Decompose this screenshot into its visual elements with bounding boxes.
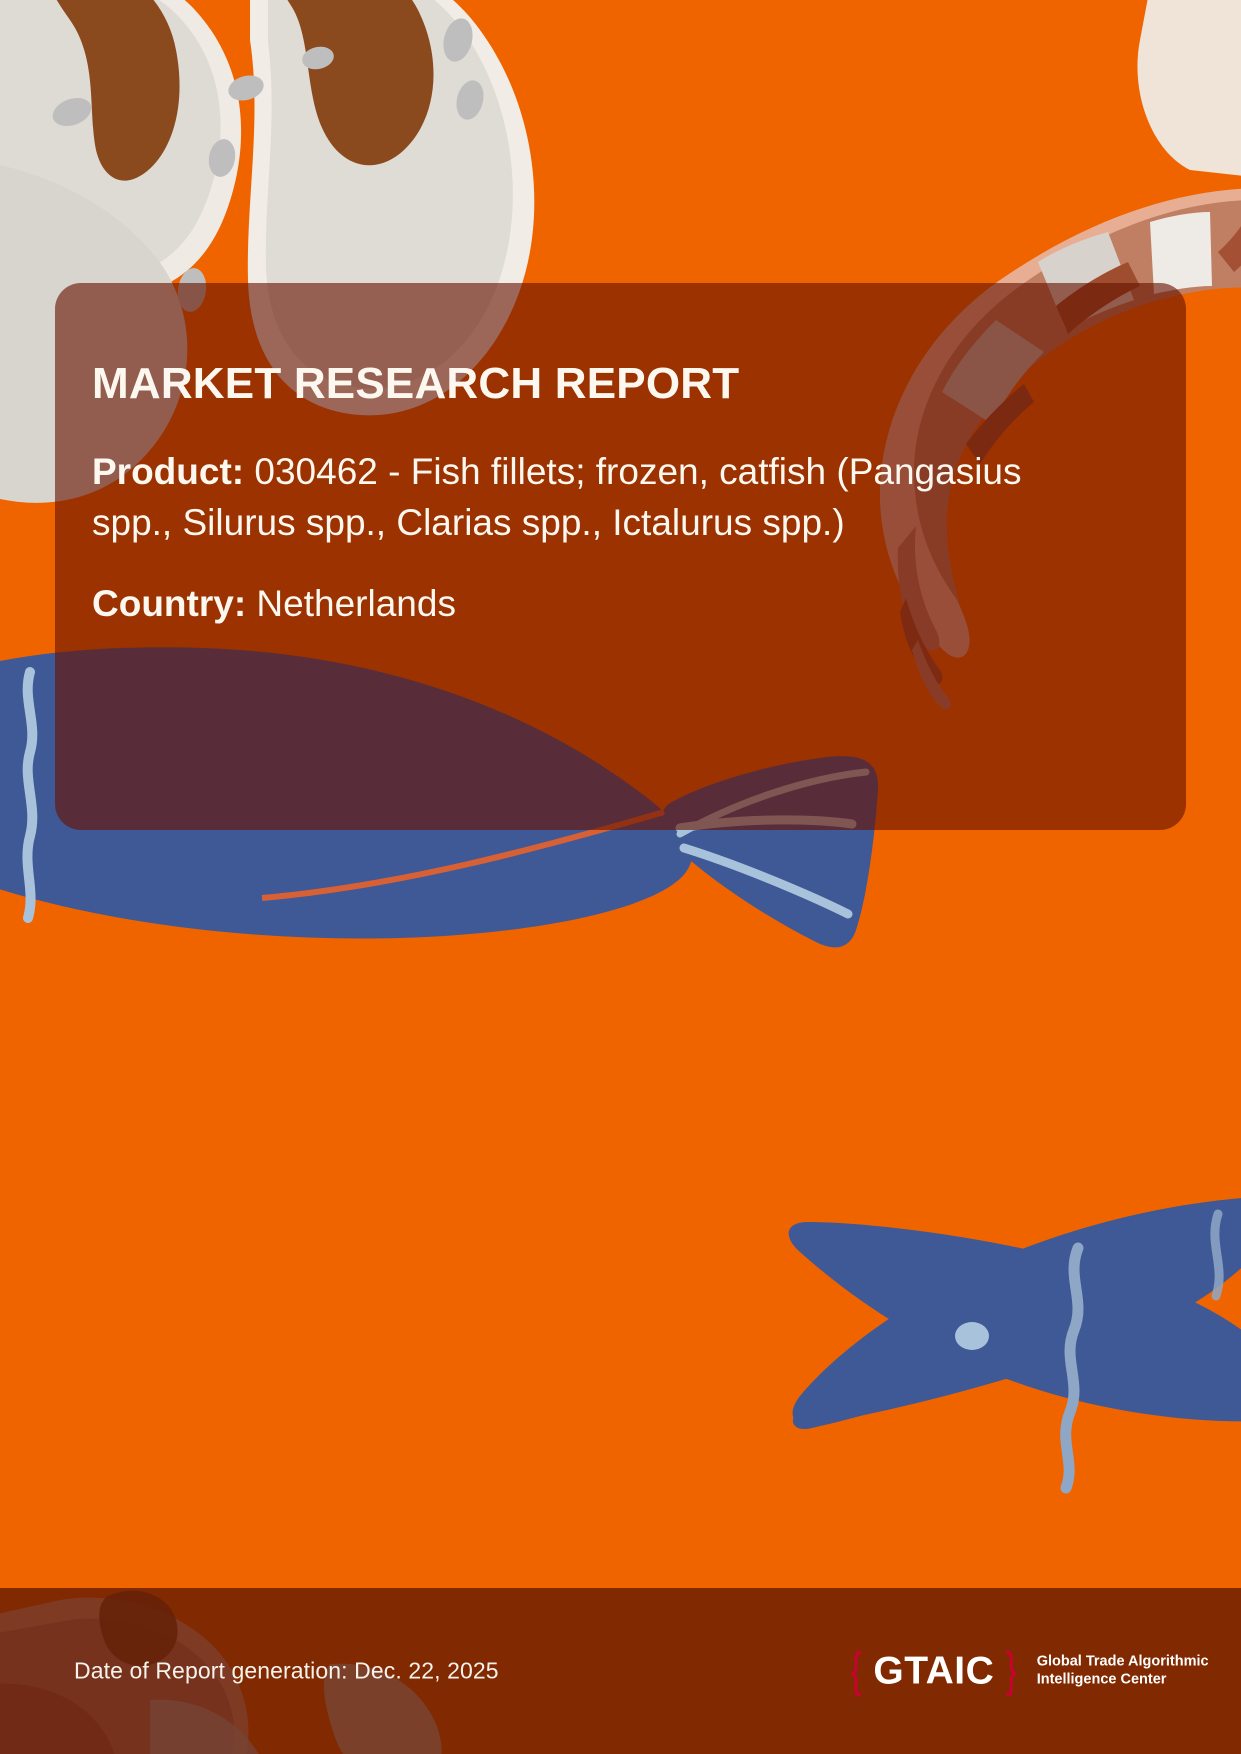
brand-subtitle: Global Trade Algorithmic Intelligence Ce… bbox=[1037, 1653, 1209, 1688]
oyster-shell-top-right bbox=[1137, 0, 1241, 180]
report-cover-page: MARKET RESEARCH REPORT Product: 030462 -… bbox=[0, 0, 1241, 1754]
report-info-card: MARKET RESEARCH REPORT Product: 030462 -… bbox=[55, 283, 1186, 830]
page-title: MARKET RESEARCH REPORT bbox=[92, 361, 1126, 408]
brand-name: GTAIC bbox=[873, 1652, 994, 1691]
country-value: Netherlands bbox=[246, 583, 456, 624]
product-line: Product: 030462 - Fish fillets; frozen, … bbox=[92, 446, 1102, 548]
country-label: Country: bbox=[92, 583, 246, 624]
country-line: Country: Netherlands bbox=[92, 578, 1102, 629]
gtaic-logo: { GTAIC } Global Trade Algorithmic Intel… bbox=[848, 1647, 1209, 1696]
page-footer: Date of Report generation: Dec. 22, 2025… bbox=[0, 1588, 1241, 1754]
fish-bottom-right bbox=[789, 1196, 1241, 1488]
brace-right-icon: } bbox=[1006, 1647, 1017, 1696]
report-generation-date: Date of Report generation: Dec. 22, 2025 bbox=[74, 1658, 499, 1685]
brace-left-icon: { bbox=[851, 1647, 862, 1696]
product-label: Product: bbox=[92, 451, 244, 492]
decorative-artwork bbox=[0, 0, 1241, 1754]
